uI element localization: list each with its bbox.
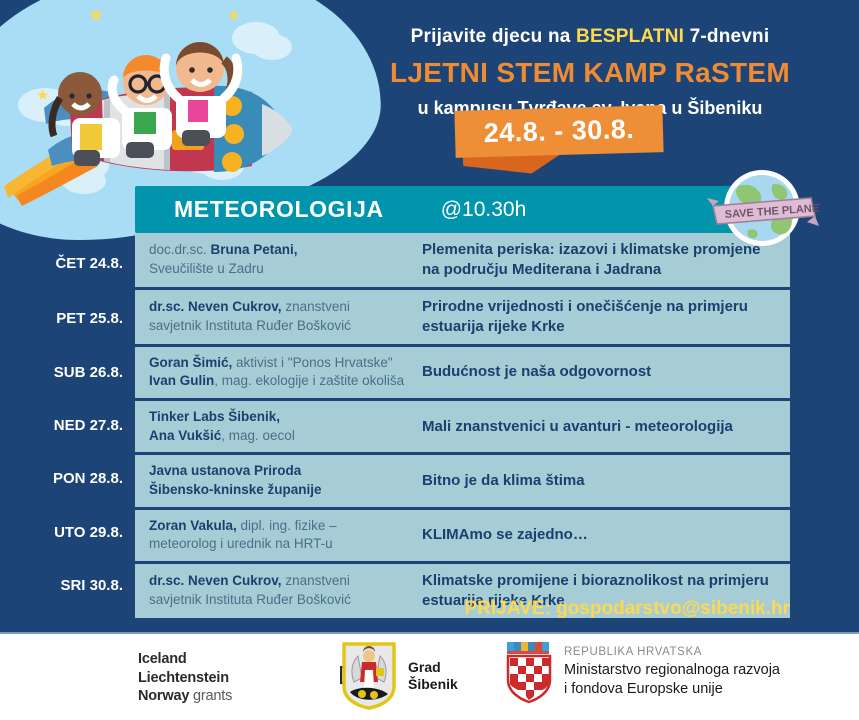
save-the-planet-badge: SAVE THE PLANET — [705, 168, 820, 248]
table-row: Goran Šimić, aktivist i "Ponos Hrvatske"… — [135, 347, 790, 401]
speaker-name: Zoran Vakula, — [149, 518, 237, 533]
speaker-name: Goran Šimić, — [149, 355, 232, 370]
date-label: UTO 29.8. — [0, 505, 135, 559]
table-header-title: METEOROLOGIJA — [174, 196, 384, 223]
speaker-affiliation: meteorolog i urednik na HRT-u — [149, 536, 333, 551]
speaker-affiliation: savjetnik Instituta Ruđer Bošković — [149, 318, 351, 333]
speaker-affiliation: , mag. ekologije i zaštite okoliša — [214, 373, 404, 388]
table-header-time: @10.30h — [441, 198, 527, 222]
speaker-name: dr.sc. Neven Cukrov, — [149, 299, 282, 314]
speaker-name-2: Šibensko-kninske županije — [149, 482, 322, 497]
speaker-name: Tinker Labs Šibenik, — [149, 409, 280, 424]
speaker-suffix: znanstveni — [282, 573, 350, 588]
schedule-table: METEOROLOGIJA @10.30h doc.dr.sc. Bruna P… — [135, 186, 790, 618]
speaker-suffix: dipl. ing. fizike – — [237, 518, 337, 533]
logo-grad-sibenik: Grad Šibenik — [340, 642, 458, 710]
speaker-suffix: aktivist i "Ponos Hrvatske" — [232, 355, 392, 370]
registration-email[interactable]: PRIJAVE: gospodarstvo@sibenik.hr — [0, 598, 790, 620]
topic-cell: Prirodne vrijednosti i onečišćenje na pr… — [418, 290, 790, 344]
speaker-cell: Goran Šimić, aktivist i "Ponos Hrvatske"… — [135, 347, 418, 398]
logo-eea-grants: Iceland Liechtenstein Norway grants — [138, 650, 232, 706]
speaker-cell: Javna ustanova Priroda Šibensko-kninske … — [135, 455, 418, 506]
topic-cell: KLIMAmo se zajedno… — [418, 518, 790, 552]
logo-ministry: REPUBLIKA HRVATSKA Ministarstvo regional… — [505, 642, 780, 704]
headline-free-highlight: BESPLATNI — [576, 26, 684, 47]
globe-icon: SAVE THE PLANET — [705, 168, 820, 248]
croatia-coat-of-arms-icon — [505, 642, 553, 704]
grad-sibenik-text: Grad Šibenik — [408, 659, 458, 694]
table-row: doc.dr.sc. Bruna Petani, Sveučilište u Z… — [135, 233, 790, 290]
speaker-suffix: znanstveni — [282, 299, 350, 314]
ministry-text: REPUBLIKA HRVATSKA Ministarstvo regional… — [564, 642, 780, 699]
footer-logos: Iceland Liechtenstein Norway grants — [0, 632, 859, 720]
table-header: METEOROLOGIJA @10.30h — [135, 186, 790, 233]
date-label: SUB 26.8. — [0, 346, 135, 399]
speaker-cell: Zoran Vakula, dipl. ing. fizike – meteor… — [135, 510, 418, 561]
speaker-name-2: Ivan Gulin — [149, 373, 214, 388]
date-range-text: 24.8. - 30.8. — [483, 114, 634, 149]
date-column: ČET 24.8. PET 25.8. SUB 26.8. NED 27.8. … — [0, 186, 135, 612]
table-row: dr.sc. Neven Cukrov, znanstveni savjetni… — [135, 290, 790, 347]
date-label: ČET 24.8. — [0, 237, 135, 290]
grad-line-2: Šibenik — [408, 676, 458, 694]
speaker-cell: Tinker Labs Šibenik, Ana Vukšić, mag. oe… — [135, 401, 418, 452]
sibenik-coat-of-arms-icon — [340, 642, 398, 710]
topic-cell: Budućnost je naša odgovornost — [418, 355, 790, 389]
speaker-affiliation: , mag. oecol — [221, 428, 295, 443]
date-label: NED 27.8. — [0, 399, 135, 452]
rocket-illustration — [0, 0, 340, 210]
headline-line1-after: 7-dnevni — [684, 26, 769, 47]
date-label: PET 25.8. — [0, 290, 135, 346]
headline-block: Prijavite djecu na BESPLATNI 7-dnevni LJ… — [330, 26, 850, 119]
topic-cell: Bitno je da klima štima — [418, 464, 790, 498]
speaker-name: dr.sc. Neven Cukrov, — [149, 573, 282, 588]
date-ribbon: 24.8. - 30.8. — [455, 108, 685, 170]
ministry-republic-label: REPUBLIKA HRVATSKA — [564, 646, 780, 658]
speaker-cell: doc.dr.sc. Bruna Petani, Sveučilište u Z… — [135, 234, 418, 285]
rocket-svg — [0, 0, 340, 210]
speaker-name: Bruna Petani, — [211, 242, 298, 257]
ribbon-body: 24.8. - 30.8. — [454, 105, 663, 158]
table-row: Tinker Labs Šibenik, Ana Vukšić, mag. oe… — [135, 401, 790, 455]
eea-line-3-light: grants — [189, 688, 232, 704]
speaker-name: Javna ustanova Priroda — [149, 463, 301, 478]
speaker-cell: dr.sc. Neven Cukrov, znanstveni savjetni… — [135, 291, 418, 342]
headline-camp-title: LJETNI STEM KAMP RaSTEM — [330, 57, 850, 89]
ministry-line-1: Ministarstvo regionalnoga razvoja — [564, 661, 780, 680]
headline-line1-before: Prijavite djecu na — [411, 26, 576, 47]
date-label: PON 28.8. — [0, 452, 135, 505]
speaker-prefix: doc.dr.sc. — [149, 242, 211, 257]
eea-line-2: Liechtenstein — [138, 669, 232, 688]
poster-canvas: ★ ★ ★ ★ ★ ★ ★ — [0, 0, 859, 720]
table-row: Javna ustanova Priroda Šibensko-kninske … — [135, 455, 790, 509]
eea-line-1: Iceland — [138, 650, 232, 669]
grad-line-1: Grad — [408, 659, 458, 677]
topic-cell: Mali znanstvenici u avanturi - meteorolo… — [418, 410, 790, 444]
ministry-line-2: i fondova Europske unije — [564, 680, 780, 699]
eea-line-3-bold: Norway — [138, 688, 189, 704]
table-row: Zoran Vakula, dipl. ing. fizike – meteor… — [135, 510, 790, 564]
headline-line-1: Prijavite djecu na BESPLATNI 7-dnevni — [330, 26, 850, 48]
speaker-affiliation: Sveučilište u Zadru — [149, 261, 264, 276]
speaker-name-2: Ana Vukšić — [149, 428, 221, 443]
